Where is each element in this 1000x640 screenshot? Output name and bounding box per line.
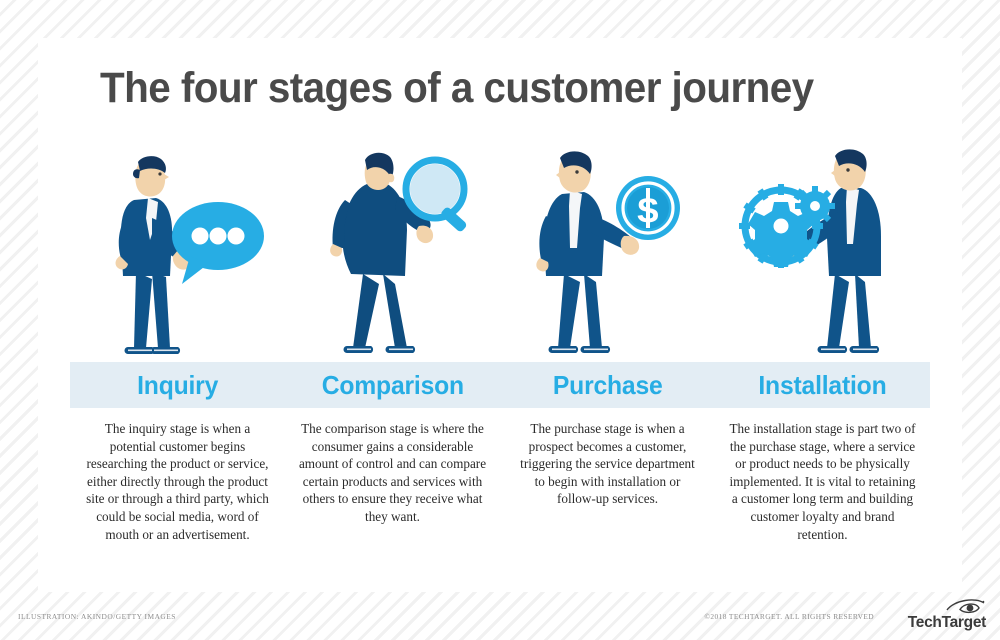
illustration-credit: ILLUSTRATION: AKINDO/GETTY IMAGES <box>18 612 176 621</box>
stages-container: Inquiry The inquiry stage is when a pote… <box>70 138 930 578</box>
stage-title-comparison: Comparison <box>321 362 463 408</box>
speech-bubble-icon <box>90 144 266 362</box>
illustration-installation <box>715 138 930 362</box>
illustration-comparison <box>285 138 500 362</box>
copyright-notice: ©2018 TECHTARGET. ALL RIGHTS RESERVED <box>704 612 874 621</box>
techtarget-logo: TechTarget <box>882 598 986 632</box>
stage-column-comparison: Comparison The comparison stage is where… <box>285 138 500 578</box>
gear-small-shape <box>795 186 835 226</box>
magnifying-glass-icon <box>305 144 481 362</box>
eye-icon <box>946 598 986 615</box>
stage-description-installation: The installation stage is part two of th… <box>728 420 918 543</box>
speech-bubble-shape <box>172 202 264 284</box>
illustration-inquiry <box>70 138 285 362</box>
stage-description-purchase: The purchase stage is when a prospect be… <box>516 420 700 508</box>
stage-description-comparison: The comparison stage is where the consum… <box>298 420 488 526</box>
infographic-card: The four stages of a customer journey <box>38 38 962 592</box>
stage-column-purchase: S Purchase The purchase stage is when a … <box>500 138 715 578</box>
techtarget-wordmark: TechTarget <box>882 616 986 630</box>
stage-title-installation: Installation <box>758 362 886 408</box>
stage-title-inquiry: Inquiry <box>137 362 218 408</box>
stage-column-inquiry: Inquiry The inquiry stage is when a pote… <box>70 138 285 578</box>
gears-icon <box>735 144 911 362</box>
stage-title-purchase: Purchase <box>553 362 663 408</box>
coin-shape: S <box>616 176 680 240</box>
stage-column-installation: Installation The installation stage is p… <box>715 138 930 578</box>
illustration-purchase: S <box>500 138 715 362</box>
dollar-coin-icon: S <box>520 144 696 362</box>
stage-description-inquiry: The inquiry stage is when a potential cu… <box>86 420 270 543</box>
page-title: The four stages of a customer journey <box>100 64 814 113</box>
